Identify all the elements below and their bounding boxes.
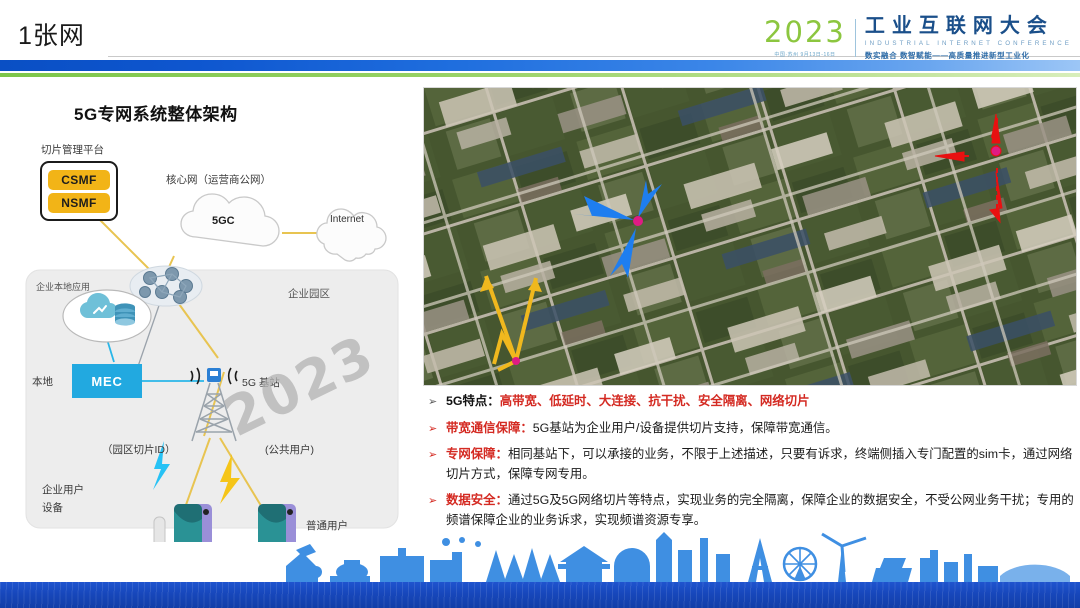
footer-sea-band xyxy=(0,582,1080,608)
bullet-segment: 高带宽、低延时、大连接、抗干扰、安全隔离、网络切片 xyxy=(500,394,810,408)
slide-root: 1张网 2023 中国·苏州 9月13日-16日 工业互联网大会 INDUSTR… xyxy=(0,0,1080,608)
csmf-cell: CSMF xyxy=(48,170,110,190)
industrial-city-skyline xyxy=(0,532,1080,584)
bullet-arrow-icon: ➢ xyxy=(428,419,446,438)
bullet-arrow-icon: ➢ xyxy=(428,445,446,464)
header-band-green xyxy=(0,73,1080,77)
label-public-user-tag: (公共用户) xyxy=(265,442,314,457)
logo-year: 2023 xyxy=(764,18,846,47)
bullet-text: 专网保障：相同基站下，可以承接的业务，不限于上述描述，只要有诉求，终端侧插入专门… xyxy=(446,445,1076,484)
bullet-segment: 相同基站下，可以承接的业务，不限于上述描述，只要有诉求，终端侧插入专门配置的si… xyxy=(446,447,1072,481)
bullet-item: ➢5G特点：高带宽、低延时、大连接、抗干扰、安全隔离、网络切片 xyxy=(428,392,1076,412)
bullet-text: 5G特点：高带宽、低延时、大连接、抗干扰、安全隔离、网络切片 xyxy=(446,392,1076,412)
logo-name-en: INDUSTRIAL INTERNET CONFERENCE xyxy=(865,40,1072,47)
bullet-list: ➢5G特点：高带宽、低延时、大连接、抗干扰、安全隔离、网络切片➢带宽通信保障：5… xyxy=(428,392,1076,537)
bullet-segment: 通过5G及5G网络切片等特点，实现业务的完全隔离，保障企业的数据安全，不受公网业… xyxy=(446,493,1074,527)
database-icon xyxy=(115,303,135,325)
logo-year-subtitle: 中国·苏州 9月13日-16日 xyxy=(774,51,835,58)
label-enterprise-device-line1: 企业用户 xyxy=(42,482,84,497)
satellite-coverage-photo xyxy=(424,88,1076,385)
label-enterprise-park: 企业园区 xyxy=(288,286,330,301)
bullet-key: 专网保障： xyxy=(446,447,508,461)
logo-year-block: 2023 中国·苏州 9月13日-16日 xyxy=(764,18,855,58)
label-5gc: 5GC xyxy=(212,215,235,227)
page-title: 1张网 xyxy=(18,24,85,49)
bullet-arrow-icon: ➢ xyxy=(428,392,446,411)
bullet-key: 5G特点： xyxy=(446,394,500,408)
label-enterprise-device-line2: 设备 xyxy=(42,500,63,515)
label-local: 本地 xyxy=(32,374,53,389)
label-slice-platform: 切片管理平台 xyxy=(41,142,104,157)
bullet-item: ➢带宽通信保障：5G基站为企业用户/设备提供切片支持，保障带宽通信。 xyxy=(428,419,1076,439)
logo-tagline: 数实融合 数智赋能——高质量推进新型工业化 xyxy=(865,50,1072,61)
photo-canvas xyxy=(424,88,1076,385)
bullet-key: 带宽通信保障： xyxy=(446,421,533,435)
yellow-site-marker xyxy=(512,357,520,365)
bullet-segment: 5G基站为企业用户/设备提供切片支持，保障带宽通信。 xyxy=(533,421,838,435)
mec-box: MEC xyxy=(72,364,142,398)
label-park-slice-id: （园区切片ID） xyxy=(102,442,176,457)
nsmf-cell: NSMF xyxy=(48,193,110,213)
logo-name-cn: 工业互联网大会 xyxy=(865,16,1072,37)
bullet-key: 数据安全： xyxy=(446,493,508,507)
label-normal-user: 普通用户 xyxy=(306,518,348,533)
bullet-arrow-icon: ➢ xyxy=(428,491,446,510)
bullet-text: 带宽通信保障：5G基站为企业用户/设备提供切片支持，保障带宽通信。 xyxy=(446,419,1076,439)
label-internet: Internet xyxy=(330,214,364,225)
logo-name-block: 工业互联网大会 INDUSTRIAL INTERNET CONFERENCE 数… xyxy=(856,16,1072,61)
label-enterprise-app: 企业本地应用 xyxy=(36,280,90,293)
bullet-item: ➢专网保障：相同基站下，可以承接的业务，不限于上述描述，只要有诉求，终端侧插入专… xyxy=(428,445,1076,484)
bullet-item: ➢数据安全：通过5G及5G网络切片等特点，实现业务的完全隔离，保障企业的数据安全… xyxy=(428,491,1076,530)
slice-management-platform-box: CSMF NSMF xyxy=(40,161,118,221)
architecture-diagram: 5G专网系统整体架构 xyxy=(14,86,412,542)
conference-logo: 2023 中国·苏州 9月13日-16日 工业互联网大会 INDUSTRIAL … xyxy=(764,14,1072,62)
label-core-network: 核心网（运营商公网） xyxy=(166,172,271,187)
bullet-text: 数据安全：通过5G及5G网络切片等特点，实现业务的完全隔离，保障企业的数据安全，… xyxy=(446,491,1076,530)
label-gnb: 5G 基站 xyxy=(242,375,280,390)
